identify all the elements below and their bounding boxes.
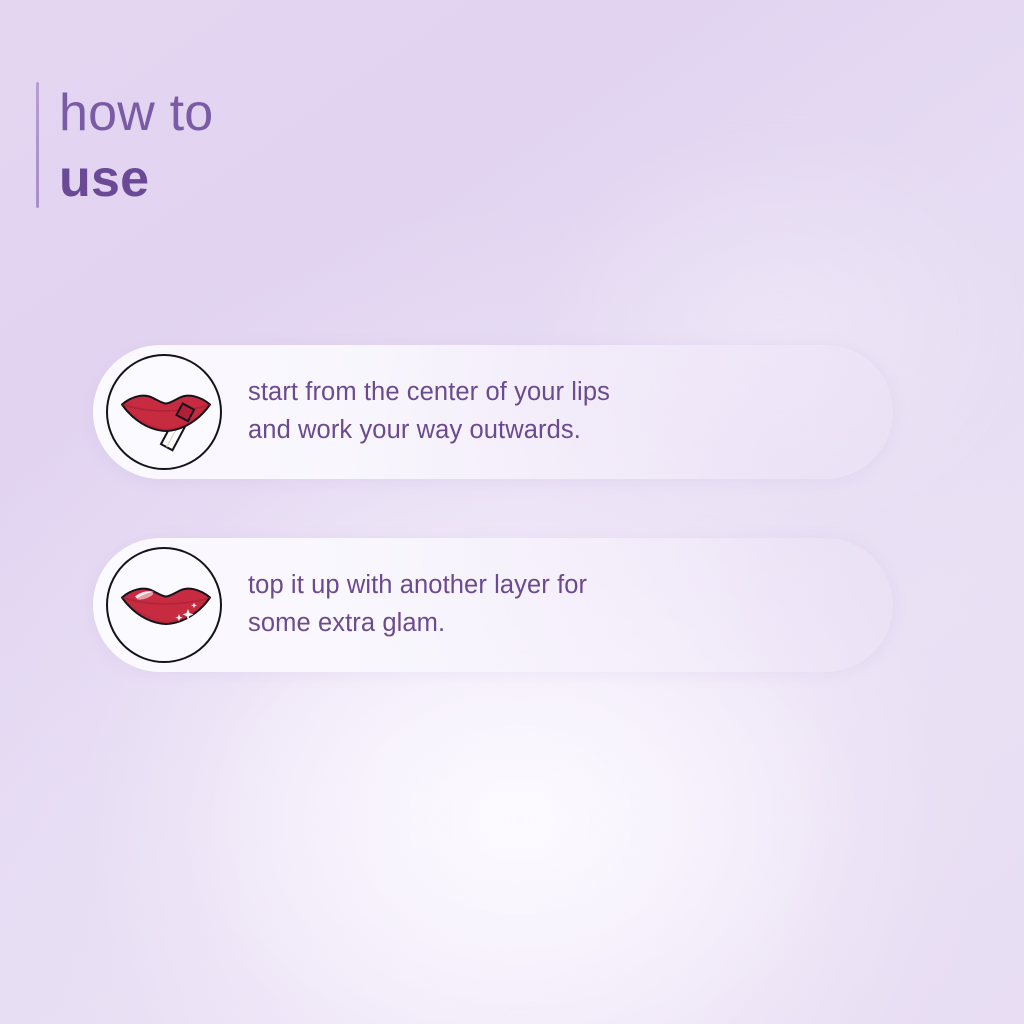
lips-with-lipstick-applicator-icon	[106, 354, 222, 470]
step-2-line2: some extra glam.	[248, 604, 848, 642]
page-title-line2: use	[59, 150, 213, 208]
step-1-text: start from the center of your lips and w…	[248, 373, 848, 449]
step-card-1: start from the center of your lips and w…	[93, 345, 893, 479]
step-1-line1: start from the center of your lips	[248, 373, 848, 411]
step-2-text: top it up with another layer for some ex…	[248, 566, 848, 642]
heading-text-group: how to use	[59, 82, 213, 208]
step-card-2: top it up with another layer for some ex…	[93, 538, 893, 672]
step-2-line1: top it up with another layer for	[248, 566, 848, 604]
heading-accent-bar	[36, 82, 39, 208]
glossy-lips-with-sparkles-icon	[106, 547, 222, 663]
page-heading: how to use	[36, 82, 213, 208]
step-1-line2: and work your way outwards.	[248, 411, 848, 449]
page-title-line1: how to	[59, 84, 213, 142]
how-to-use-infographic: how to use	[0, 0, 1024, 1024]
